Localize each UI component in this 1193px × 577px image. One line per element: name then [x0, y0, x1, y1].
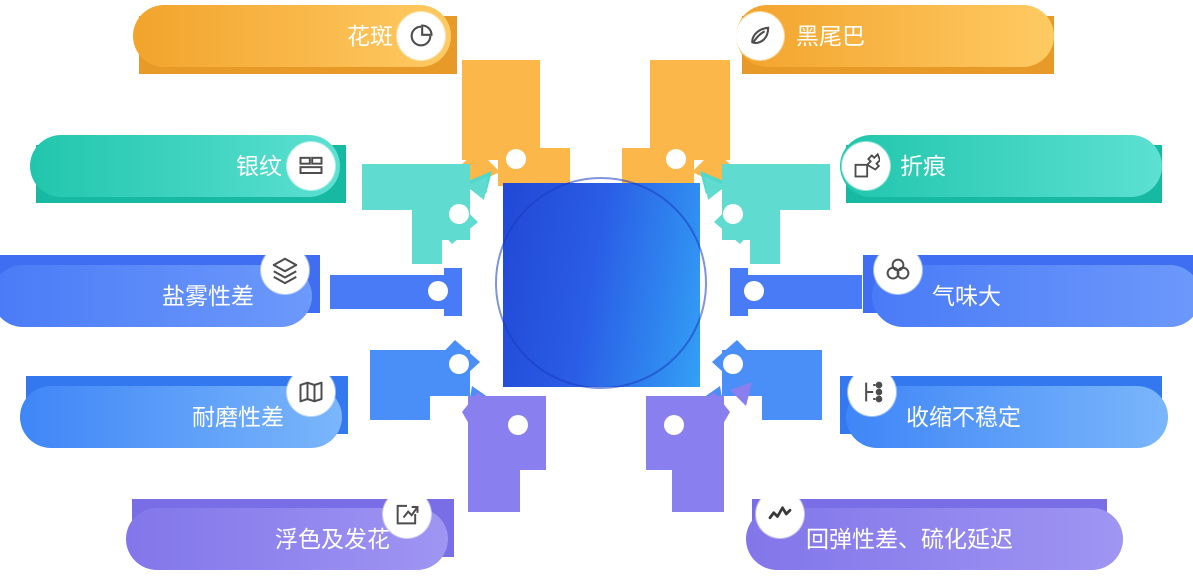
recycle-icon[interactable] — [874, 246, 922, 294]
diagram-canvas: 粉体应用解决 方案提供商 花斑 黑尾巴 银纹 折痕 — [0, 0, 1193, 577]
node-label-hua-ban: 花斑 — [347, 25, 393, 48]
layers-icon[interactable] — [261, 246, 309, 294]
leaf-icon[interactable] — [736, 12, 784, 60]
pie-chart-icon[interactable] — [397, 12, 445, 60]
node-label-nai-mo-xing-cha: 耐磨性差 — [192, 406, 284, 429]
node-label-qi-wei-da: 气味大 — [932, 285, 1001, 308]
center-label-line1: 粉体应用解决 — [34, 71, 163, 102]
brick-wall-icon[interactable] — [287, 142, 335, 190]
line-chart-icon[interactable] — [756, 490, 804, 538]
node-label-zhe-hen: 折痕 — [900, 155, 946, 178]
map-icon[interactable] — [287, 368, 335, 416]
node-label-yan-wu-xing-cha: 盐雾性差 — [162, 285, 254, 308]
tree-structure-icon[interactable] — [848, 368, 896, 416]
connector-zhe-hen — [704, 164, 830, 264]
connector-hui-tan-xing-cha — [646, 382, 752, 512]
node-label-hui-tan-xing-cha: 回弹性差、硫化延迟 — [806, 528, 1013, 551]
connector-yan-wu-xing-cha — [330, 268, 462, 316]
connector-hua-ban — [462, 60, 570, 194]
center-label-line2: 方案提供商 — [45, 102, 153, 133]
puzzle-piece-icon[interactable] — [842, 142, 890, 190]
connector-hei-wei-ba — [622, 60, 730, 194]
connector-yin-wen — [362, 164, 488, 264]
node-label-shou-suo-bu-wen-ding: 收缩不稳定 — [906, 406, 1021, 429]
trending-up-box-icon[interactable] — [383, 490, 431, 538]
center-circle-outline — [495, 177, 707, 389]
center-node — [503, 183, 700, 387]
node-label-hei-wei-ba: 黑尾巴 — [796, 25, 865, 48]
node-label-yin-wen: 银纹 — [236, 155, 282, 178]
connector-fu-se-ji-fa-hua — [462, 392, 546, 512]
connector-qi-wei-da — [730, 268, 862, 316]
node-label-fu-se-ji-fa-hua: 浮色及发花 — [275, 528, 390, 551]
